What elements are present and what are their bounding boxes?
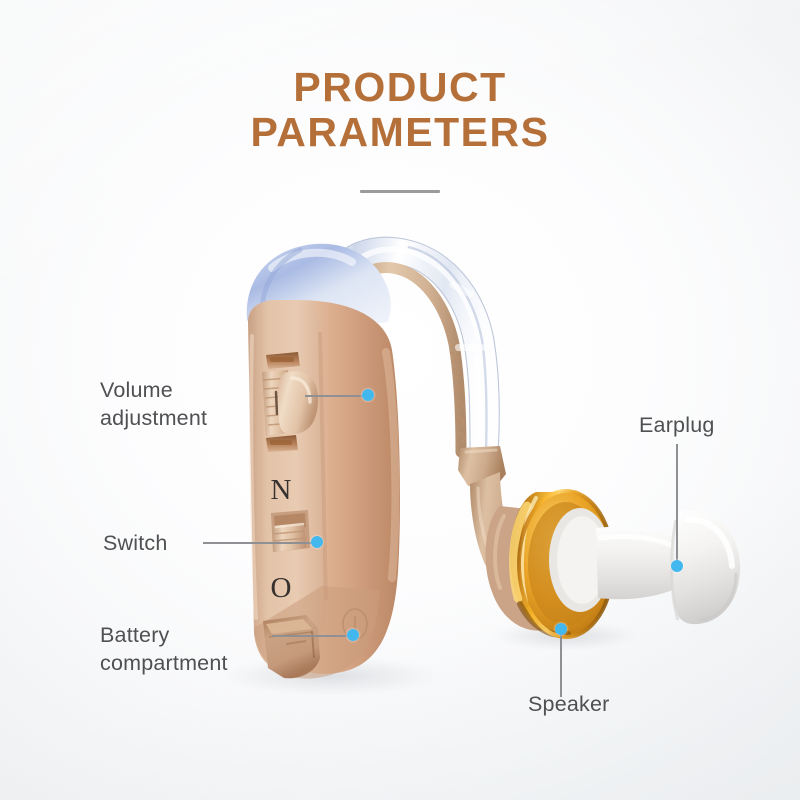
page-title-line-1: PRODUCT — [0, 66, 800, 109]
page-title-line-2: PARAMETERS — [0, 111, 800, 154]
speaker-assembly — [510, 491, 613, 637]
title-divider — [360, 190, 440, 193]
leader-line-volume-adjustment — [305, 395, 367, 397]
top-cap — [247, 244, 391, 336]
marker-dot-speaker[interactable] — [555, 623, 567, 635]
page-header: PRODUCT PARAMETERS — [0, 66, 800, 193]
hearing-aid-body — [248, 300, 400, 679]
power-switch: N O — [271, 474, 310, 604]
marker-dot-volume-adjustment[interactable] — [362, 389, 374, 401]
leader-line-speaker — [560, 631, 562, 697]
callout-label-switch: Switch — [103, 530, 223, 558]
ear-hook — [322, 237, 499, 452]
marker-dot-earplug[interactable] — [671, 560, 683, 572]
volume-control — [262, 352, 318, 452]
callout-label-speaker: Speaker — [528, 691, 648, 719]
marker-dot-switch[interactable] — [311, 536, 323, 548]
switch-marking-n: N — [271, 474, 292, 506]
leader-line-earplug — [676, 444, 678, 564]
marker-dot-battery-compartment[interactable] — [347, 629, 359, 641]
leader-line-switch — [203, 542, 316, 544]
infographic-canvas: PRODUCT PARAMETERS — [0, 0, 800, 800]
leader-line-battery-compartment — [272, 635, 352, 637]
callout-label-battery-compartment: Battery compartment — [100, 622, 270, 678]
callout-label-volume-adjustment: Volume adjustment — [100, 377, 260, 433]
inner-sound-tube — [352, 268, 461, 452]
earplug — [596, 511, 740, 624]
battery-compartment — [263, 615, 320, 678]
switch-marking-o: O — [271, 572, 292, 604]
elbow-connector — [458, 446, 556, 631]
callout-label-earplug: Earplug — [639, 412, 759, 440]
